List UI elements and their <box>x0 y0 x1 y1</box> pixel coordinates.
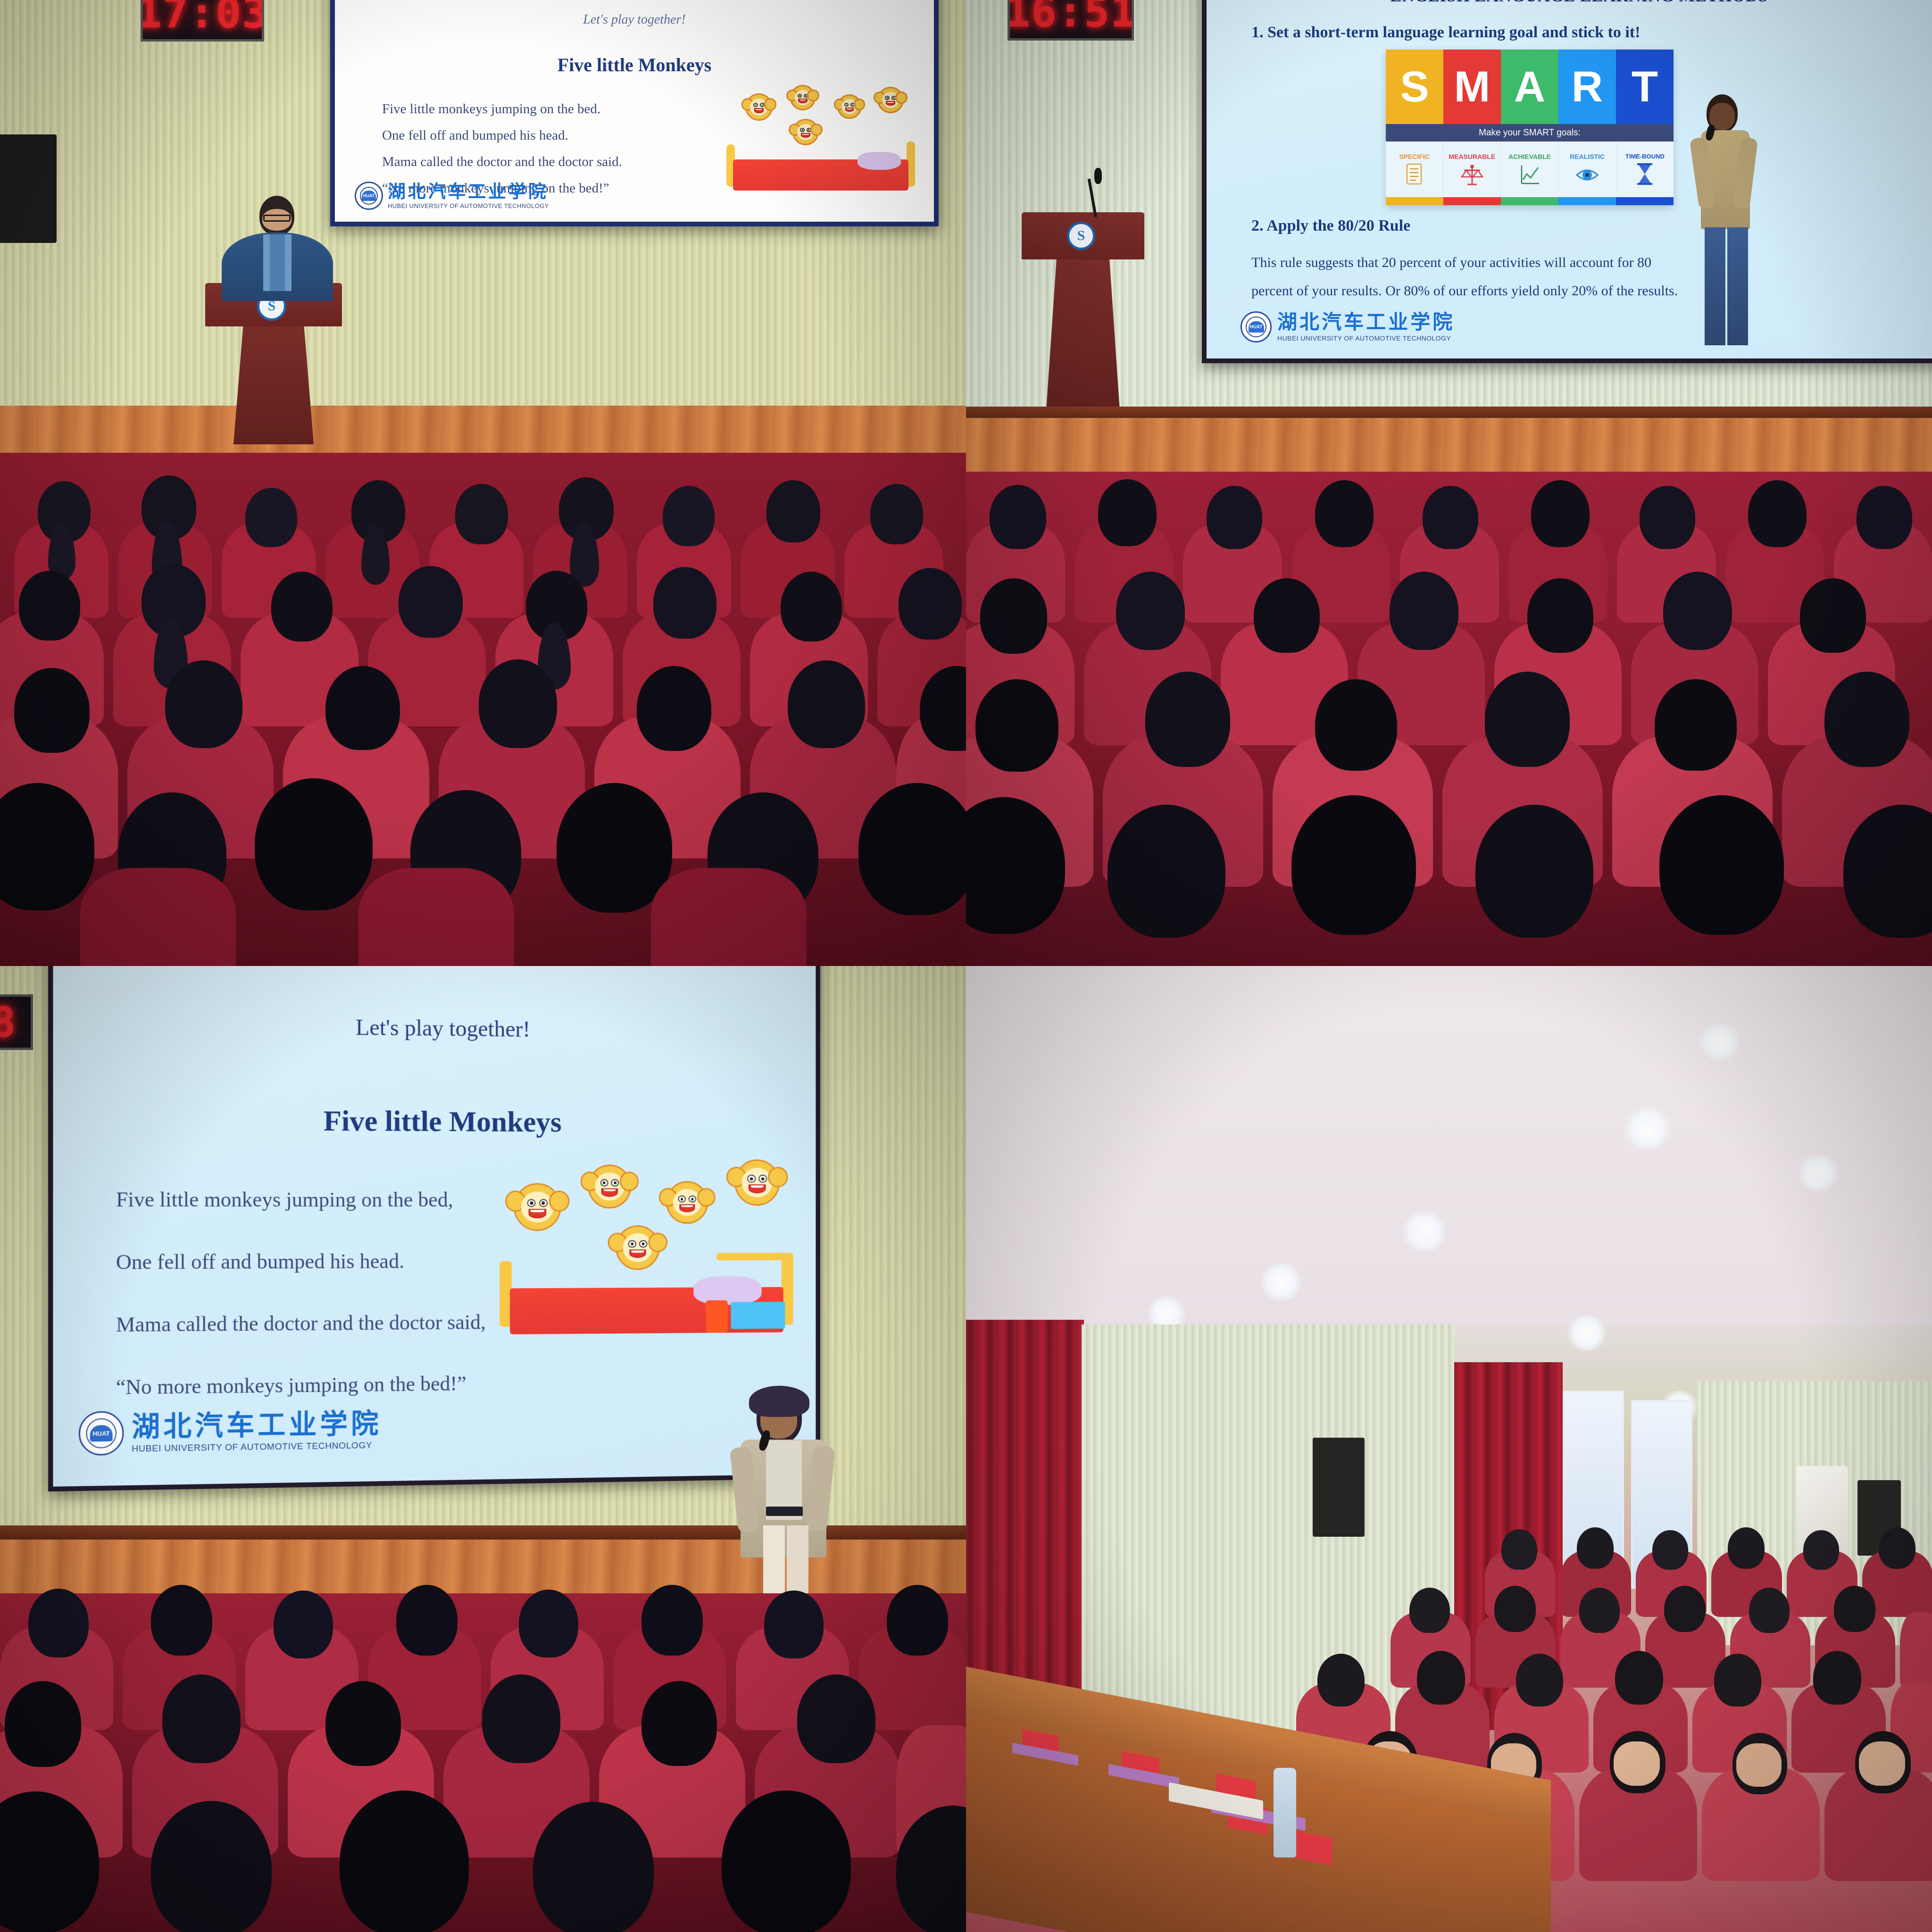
stage-floor <box>0 406 966 458</box>
monkey-icon <box>588 1165 631 1208</box>
speaker-bottom-left <box>717 1391 849 1626</box>
scales-icon <box>1461 163 1483 188</box>
smart-letter-m: M <box>1443 50 1501 124</box>
huat-mark: HUAT <box>92 1430 110 1437</box>
slide-line-3: Mama called the doctor and the doctor sa… <box>382 154 622 170</box>
huat-logo: HUAT 湖北汽车工业学院 HUBEI UNIVERSITY OF AUTOMO… <box>79 1408 382 1456</box>
stage-floor <box>966 418 1932 479</box>
ceiling-downlight <box>1565 1315 1608 1351</box>
huat-en-name: HUBEI UNIVERSITY OF AUTOMOTIVE TECHNOLOG… <box>1277 335 1455 341</box>
microphone-head <box>1094 168 1102 184</box>
digital-clock-bottom-left: 58 <box>0 994 33 1050</box>
huat-logo: HUAT 湖北汽车工业学院 HUBEI UNIVERSITY OF AUTOMO… <box>1241 311 1455 342</box>
wall-baseboard <box>966 407 1932 419</box>
speaker-top-left <box>208 196 344 295</box>
slide-body-1: This rule suggests that 20 percent of yo… <box>1251 255 1651 271</box>
slide-line-3: Mama called the doctor and the doctor sa… <box>116 1310 486 1337</box>
panel-bottom-right <box>966 966 1932 1932</box>
smart-letter-a: A <box>1501 50 1558 124</box>
huat-mark: HUAT <box>363 193 375 198</box>
hourglass-icon <box>1635 162 1655 188</box>
huat-en-name: HUBEI UNIVERSITY OF AUTOMOTIVE TECHNOLOG… <box>388 203 549 209</box>
projection-screen: ENGLISH LANGUAGE LEARNING METHODS 1. Set… <box>1207 0 1932 358</box>
photo-collage: 17:03 Let's play together! Five little M… <box>0 0 1932 1932</box>
slide-heading: ENGLISH LANGUAGE LEARNING METHODS <box>1207 0 1932 6</box>
digital-clock-top-left: 17:03 <box>141 0 264 42</box>
slide-content: ENGLISH LANGUAGE LEARNING METHODS 1. Set… <box>1207 0 1932 358</box>
clock-time: 58 <box>0 998 17 1047</box>
slide-title: Five little Monkeys <box>53 1103 816 1141</box>
audience-bottom-left <box>0 1593 966 1932</box>
monkeys-illustration <box>726 85 924 212</box>
smart-criterion-label: TIME-BOUND <box>1625 153 1665 160</box>
smart-letter-s: S <box>1386 50 1443 124</box>
huat-seal-icon: HUAT <box>1241 311 1272 342</box>
smart-criterion-label: REALISTIC <box>1570 153 1605 160</box>
smart-criterion: REALISTIC <box>1559 142 1616 198</box>
ceiling <box>966 966 1932 1324</box>
clock-time: 17:03 <box>141 0 264 38</box>
slide-content: Let's play together! Five little Monkeys… <box>53 966 816 1487</box>
document-icon <box>1405 163 1424 188</box>
huat-en-name: HUBEI UNIVERSITY OF AUTOMOTIVE TECHNOLOG… <box>132 1441 382 1453</box>
monkey-icon <box>514 1183 561 1231</box>
ceiling-downlight <box>1796 1155 1840 1191</box>
slide-body-2: percent of your results. Or 80% of our e… <box>1251 283 1678 299</box>
smart-criterion-label: SPECIFIC <box>1399 153 1430 160</box>
huat-cn-name: 湖北汽车工业学院 <box>132 1409 382 1441</box>
slide-subtitle: Let's play together! <box>335 12 934 27</box>
speaker-top-right <box>1678 94 1768 358</box>
digital-clock-top-right: 16:51 <box>1008 0 1134 41</box>
projection-screen-frame: Let's play together! Five little Monkeys… <box>48 966 820 1491</box>
ceiling-downlight <box>1258 1263 1304 1301</box>
slide-line-1: Five little monkeys jumping on the bed. <box>382 101 600 117</box>
bed-illustration <box>500 1271 793 1357</box>
eye-icon <box>1575 163 1599 188</box>
ceiling-downlight <box>1400 1211 1449 1252</box>
ceiling-downlight <box>1622 1108 1674 1150</box>
monkeys-illustration <box>500 1155 802 1357</box>
huat-seal-icon: HUAT <box>355 182 383 210</box>
slide-content: Let's play together! Five little Monkeys… <box>335 0 934 222</box>
monkey-icon <box>734 1159 780 1206</box>
smart-criterion-label: MEASURABLE <box>1449 153 1495 160</box>
huat-seal-icon: HUAT <box>79 1411 124 1456</box>
panel-top-right: 16:51 ENGLISH LANGUAGE LEARNING METHODS … <box>966 0 1932 966</box>
monkey-icon <box>877 87 904 113</box>
monkey-icon <box>616 1225 659 1270</box>
bed-illustration <box>726 151 915 203</box>
water-bottle <box>1274 1768 1296 1857</box>
smart-criterion: SPECIFIC <box>1386 142 1443 198</box>
monkey-icon <box>666 1181 708 1224</box>
smart-criterion: MEASURABLE <box>1443 142 1501 198</box>
huat-cn-name: 湖北汽车工业学院 <box>1277 312 1455 332</box>
audience-top-left <box>0 453 966 966</box>
wall-speaker <box>1313 1438 1365 1537</box>
projection-screen: Let's play together! Five little Monkeys… <box>335 0 934 222</box>
smart-criterion: TIME-BOUND <box>1616 142 1674 198</box>
wall-speaker <box>0 134 57 243</box>
podium: S <box>1022 212 1144 434</box>
podium: S <box>205 283 342 443</box>
slide-line-1: Five little monkeys jumping on the bed, <box>116 1187 453 1212</box>
monkey-icon <box>745 93 773 121</box>
smart-bar-label: Make your SMART goals: <box>1386 124 1674 141</box>
slide-point-2: 2. Apply the 80/20 Rule <box>1251 217 1410 235</box>
smart-criterion: ACHIEVABLE <box>1501 142 1558 198</box>
projection-screen-frame: Let's play together! Five little Monkeys… <box>330 0 939 226</box>
audience-top-right <box>966 472 1932 966</box>
slide-title: Five little Monkeys <box>335 54 934 76</box>
slide-line-2: One fell off and bumped his head. <box>116 1249 404 1274</box>
huat-logo: HUAT 湖北汽车工业学院 HUBEI UNIVERSITY OF AUTOMO… <box>355 182 549 210</box>
projection-screen-frame: ENGLISH LANGUAGE LEARNING METHODS 1. Set… <box>1202 0 1932 363</box>
huat-cn-name: 湖北汽车工业学院 <box>388 183 549 200</box>
panel-top-left: 17:03 Let's play together! Five little M… <box>0 0 966 966</box>
slide-point-1: 1. Set a short-term language learning go… <box>1251 24 1640 42</box>
monkey-icon <box>790 85 816 110</box>
slide-line-4: “No more monkeys jumping on the bed!” <box>116 1372 466 1399</box>
chart-growth-icon <box>1518 163 1541 188</box>
clock-time: 16:51 <box>1008 0 1134 37</box>
monkey-icon <box>837 94 862 119</box>
podium-seal-icon: S <box>1067 222 1095 250</box>
slide-subtitle: Let's play together! <box>53 1011 816 1045</box>
huat-mark: HUAT <box>1249 325 1262 330</box>
slide-line-2: One fell off and bumped his head. <box>382 128 568 143</box>
smart-letter-r: R <box>1558 50 1616 124</box>
ceiling-downlight <box>1697 1023 1742 1060</box>
smart-criterion-label: ACHIEVABLE <box>1508 153 1551 160</box>
panel-bottom-left: 58 Let's play together! Five little Monk… <box>0 966 966 1932</box>
smart-goal-graphic: S M A R T Make your SMART goals: SPECIFI… <box>1386 50 1674 205</box>
projection-screen: Let's play together! Five little Monkeys… <box>53 966 816 1487</box>
smart-letter-t: T <box>1616 50 1674 124</box>
monkey-icon <box>792 119 819 145</box>
